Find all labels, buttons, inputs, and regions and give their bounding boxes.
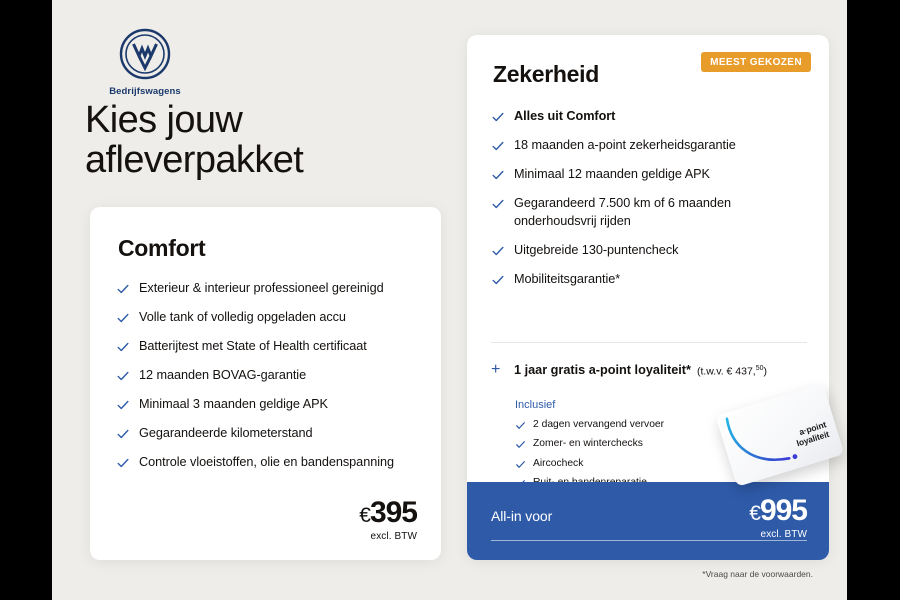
- list-item: Batterijtest met State of Health certifi…: [116, 337, 416, 355]
- zekerheid-title: Zekerheid: [493, 61, 599, 88]
- feature-text: Minimaal 3 maanden geldige APK: [139, 395, 328, 413]
- comfort-price-block: €395 excl. BTW: [359, 498, 417, 542]
- feature-text: Volle tank of volledig opgeladen accu: [139, 308, 346, 326]
- check-icon: [116, 340, 130, 354]
- list-item: Minimaal 3 maanden geldige APK: [116, 395, 416, 413]
- brand-subtitle: Bedrijfswagens: [100, 86, 190, 97]
- zekerheid-price-block: €995 excl. BTW: [749, 496, 807, 540]
- list-item: 12 maanden BOVAG-garantie: [116, 366, 416, 384]
- comfort-title: Comfort: [118, 235, 205, 262]
- currency-symbol: €: [359, 504, 370, 527]
- feature-text: Gegarandeerd 7.500 km of 6 maanden onder…: [514, 194, 809, 230]
- check-icon: [116, 427, 130, 441]
- feature-text: Exterieur & interieur professioneel gere…: [139, 279, 384, 297]
- comfort-price-note: excl. BTW: [359, 531, 417, 542]
- list-item: Uitgebreide 130-puntencheck: [491, 241, 809, 259]
- footer-rule: [491, 540, 807, 541]
- currency-symbol: €: [749, 502, 760, 525]
- vw-logo-icon: [119, 28, 171, 80]
- feature-text: Controle vloeistoffen, olie en bandenspa…: [139, 453, 394, 471]
- check-icon: [491, 168, 505, 182]
- list-item: Aircocheck: [515, 457, 745, 470]
- check-icon: [491, 273, 505, 287]
- zekerheid-price-amount: €995: [749, 496, 807, 526]
- brand-block: Bedrijfswagens: [100, 28, 190, 97]
- addon-value: (t.w.v. € 437,50): [697, 365, 767, 378]
- check-icon: [116, 311, 130, 325]
- list-item: Minimaal 12 maanden geldige APK: [491, 165, 809, 183]
- screenshot-stage: Bedrijfswagens Kies jouw afleverpakket C…: [0, 0, 900, 600]
- poster-canvas: Bedrijfswagens Kies jouw afleverpakket C…: [52, 0, 847, 600]
- check-icon: [491, 110, 505, 124]
- status-badge: MEEST GEKOZEN: [701, 52, 811, 72]
- inclusief-title: Inclusief: [515, 399, 745, 411]
- list-item: Mobiliteitsgarantie*: [491, 270, 809, 288]
- package-card-zekerheid[interactable]: MEEST GEKOZEN Zekerheid Alles uit Comfor…: [467, 35, 829, 560]
- feature-text: Minimaal 12 maanden geldige APK: [514, 165, 710, 183]
- check-icon: [515, 420, 526, 431]
- list-item: Controle vloeistoffen, olie en bandenspa…: [116, 453, 416, 471]
- feature-text: 18 maanden a-point zekerheidsgarantie: [514, 136, 736, 154]
- plus-icon: +: [491, 362, 505, 378]
- check-icon: [116, 456, 130, 470]
- feature-text: Batterijtest met State of Health certifi…: [139, 337, 367, 355]
- list-item: Exterieur & interieur professioneel gere…: [116, 279, 416, 297]
- inclusief-text: Aircocheck: [533, 457, 583, 470]
- check-icon: [491, 139, 505, 153]
- list-item: Alles uit Comfort: [491, 107, 809, 125]
- footnote: *Vraag naar de voorwaarden.: [702, 569, 813, 579]
- zekerheid-feature-list: Alles uit Comfort 18 maanden a-point zek…: [491, 107, 809, 299]
- feature-text: Mobiliteitsgarantie*: [514, 270, 620, 288]
- footer-label: All-in voor: [491, 508, 552, 524]
- feature-text: Alles uit Comfort: [514, 107, 615, 125]
- price-value: 995: [760, 494, 807, 527]
- list-item: 18 maanden a-point zekerheidsgarantie: [491, 136, 809, 154]
- divider: [491, 342, 807, 343]
- addon-value-cents: 50: [756, 365, 764, 372]
- zekerheid-price-footer: All-in voor €995 excl. BTW: [467, 482, 829, 560]
- check-icon: [491, 197, 505, 211]
- list-item: Volle tank of volledig opgeladen accu: [116, 308, 416, 326]
- list-item: Gegarandeerd 7.500 km of 6 maanden onder…: [491, 194, 809, 230]
- addon-label: 1 jaar gratis a-point loyaliteit*: [514, 363, 691, 377]
- check-icon: [116, 282, 130, 296]
- check-icon: [116, 398, 130, 412]
- zekerheid-price-note: excl. BTW: [749, 529, 807, 540]
- feature-text: Uitgebreide 130-puntencheck: [514, 241, 678, 259]
- check-icon: [116, 369, 130, 383]
- feature-text: 12 maanden BOVAG-garantie: [139, 366, 306, 384]
- comfort-feature-list: Exterieur & interieur professioneel gere…: [116, 279, 416, 482]
- inclusief-text: Zomer- en winterchecks: [533, 437, 643, 450]
- addon-value-suffix: ): [764, 365, 768, 377]
- list-item: Zomer- en winterchecks: [515, 437, 745, 450]
- package-card-comfort[interactable]: Comfort Exterieur & interieur profession…: [90, 207, 441, 560]
- price-value: 395: [370, 496, 417, 529]
- addon-value-prefix: (t.w.v. € 437,: [697, 365, 756, 377]
- addon-row: + 1 jaar gratis a-point loyaliteit* (t.w…: [491, 362, 821, 378]
- comfort-price-amount: €395: [359, 498, 417, 528]
- page-title: Kies jouw afleverpakket: [85, 100, 415, 181]
- check-icon: [515, 459, 526, 470]
- check-icon: [491, 244, 505, 258]
- check-icon: [515, 439, 526, 450]
- inclusief-text: 2 dagen vervangend vervoer: [533, 418, 664, 431]
- list-item: Gegarandeerde kilometerstand: [116, 424, 416, 442]
- feature-text: Gegarandeerde kilometerstand: [139, 424, 313, 442]
- list-item: 2 dagen vervangend vervoer: [515, 418, 745, 431]
